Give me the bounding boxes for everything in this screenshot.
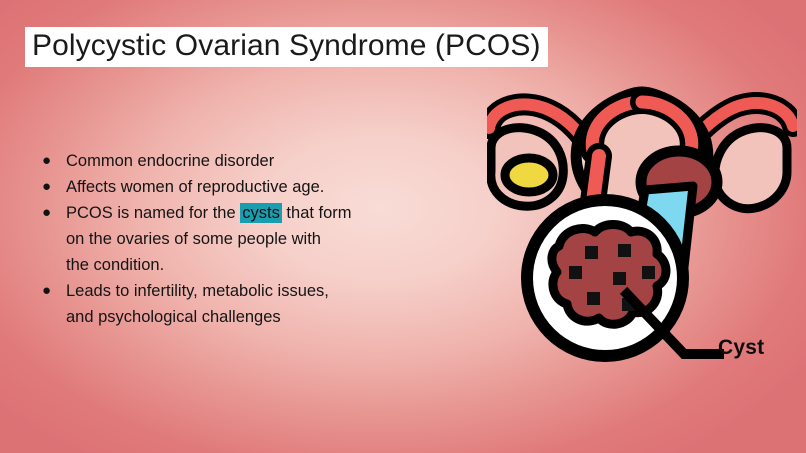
bullet-marker-icon: ● [36,278,66,304]
text-line: Affects women of reproductive age. [66,174,436,200]
cyst-callout-label: Cyst [718,336,764,360]
text-line: on the ovaries of some people with [66,226,436,252]
text-line: the condition. [66,252,436,278]
text-segment: Common endocrine disorder [66,152,274,170]
slide-title-band: Polycystic Ovarian Syndrome (PCOS) [25,27,548,67]
text-segment: and psychological challenges [66,308,281,326]
list-item: ● Leads to infertility, metabolic issues… [36,278,436,330]
left-ovary-follicle [505,158,553,192]
text-line: PCOS is named for the cysts that form [66,200,436,226]
bullet-list: ● Common endocrine disorder ● Affects wo… [36,148,436,330]
list-item: ● PCOS is named for the cysts that form … [36,200,436,278]
text-line: Leads to infertility, metabolic issues, [66,278,436,304]
text-segment: that form [282,204,352,222]
bullet-marker-icon: ● [36,174,66,200]
text-line: Common endocrine disorder [66,148,436,174]
bullet-marker-icon: ● [36,200,66,226]
bullet-marker-icon: ● [36,148,66,174]
list-item-text: Affects women of reproductive age. [66,174,436,200]
page-title: Polycystic Ovarian Syndrome (PCOS) [32,29,541,62]
right-ovary-body [715,128,787,209]
text-segment: Affects women of reproductive age. [66,178,324,196]
cyst-dot [585,246,598,259]
cyst-dot [618,244,631,257]
text-segment: on the ovaries of some people with [66,230,321,248]
list-item-text: Leads to infertility, metabolic issues, … [66,278,436,330]
cyst-dot [613,272,626,285]
cyst-dot [569,266,582,279]
text-line: and psychological challenges [66,304,436,330]
list-item: ● Affects women of reproductive age. [36,174,436,200]
text-segment: Leads to infertility, metabolic issues, [66,282,329,300]
list-item-text: PCOS is named for the cysts that form on… [66,200,436,278]
highlighted-term: cysts [240,203,282,223]
list-item-text: Common endocrine disorder [66,148,436,174]
slide-canvas: Polycystic Ovarian Syndrome (PCOS) ● Com… [0,0,806,453]
list-item: ● Common endocrine disorder [36,148,436,174]
cyst-dot [587,292,600,305]
cyst-dot [642,266,655,279]
text-segment: PCOS is named for the [66,204,240,222]
text-segment: the condition. [66,256,164,274]
